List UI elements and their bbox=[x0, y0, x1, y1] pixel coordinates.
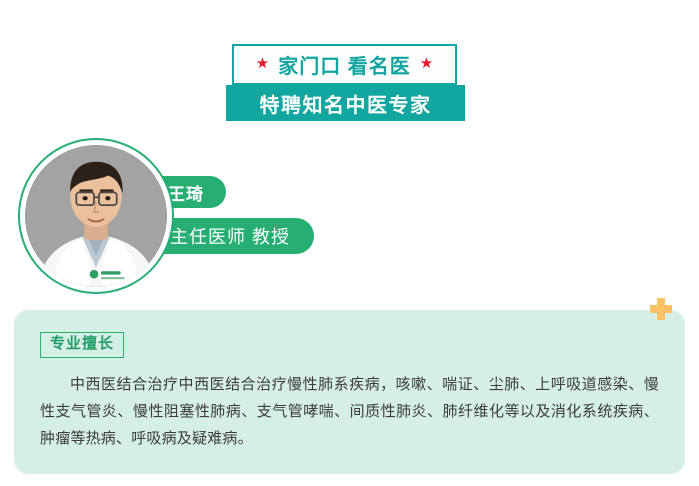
portrait-illustration bbox=[25, 145, 167, 287]
star-icon-left: ★ bbox=[256, 56, 269, 71]
doctor-name: 王琦 bbox=[168, 180, 204, 205]
star-icon-right: ★ bbox=[420, 56, 433, 71]
subtitle-banner: 特聘知名中医专家 bbox=[226, 85, 465, 121]
expertise-card: 专业擅长 中西医结合治疗中西医结合治疗慢性肺系疾病，咳嗽、喘证、尘肺、上呼吸道感… bbox=[14, 310, 685, 474]
subtitle-text: 特聘知名中医专家 bbox=[260, 89, 432, 118]
plus-icon bbox=[650, 298, 672, 320]
expertise-label: 专业擅长 bbox=[40, 332, 124, 358]
header-banner-group: ★ 家门口 看名医 ★ 特聘知名中医专家 bbox=[0, 0, 699, 130]
doctor-portrait-photo bbox=[25, 145, 167, 287]
slogan-banner: ★ 家门口 看名医 ★ bbox=[232, 44, 457, 85]
expertise-description: 中西医结合治疗中西医结合治疗慢性肺系疾病，咳嗽、喘证、尘肺、上呼吸道感染、慢性支… bbox=[40, 371, 659, 452]
doctor-profile: 王琦 主任医师 教授 bbox=[0, 130, 699, 305]
avatar bbox=[18, 138, 174, 294]
doctor-title: 主任医师 教授 bbox=[170, 223, 290, 249]
slogan-text: 家门口 看名医 bbox=[278, 50, 411, 79]
